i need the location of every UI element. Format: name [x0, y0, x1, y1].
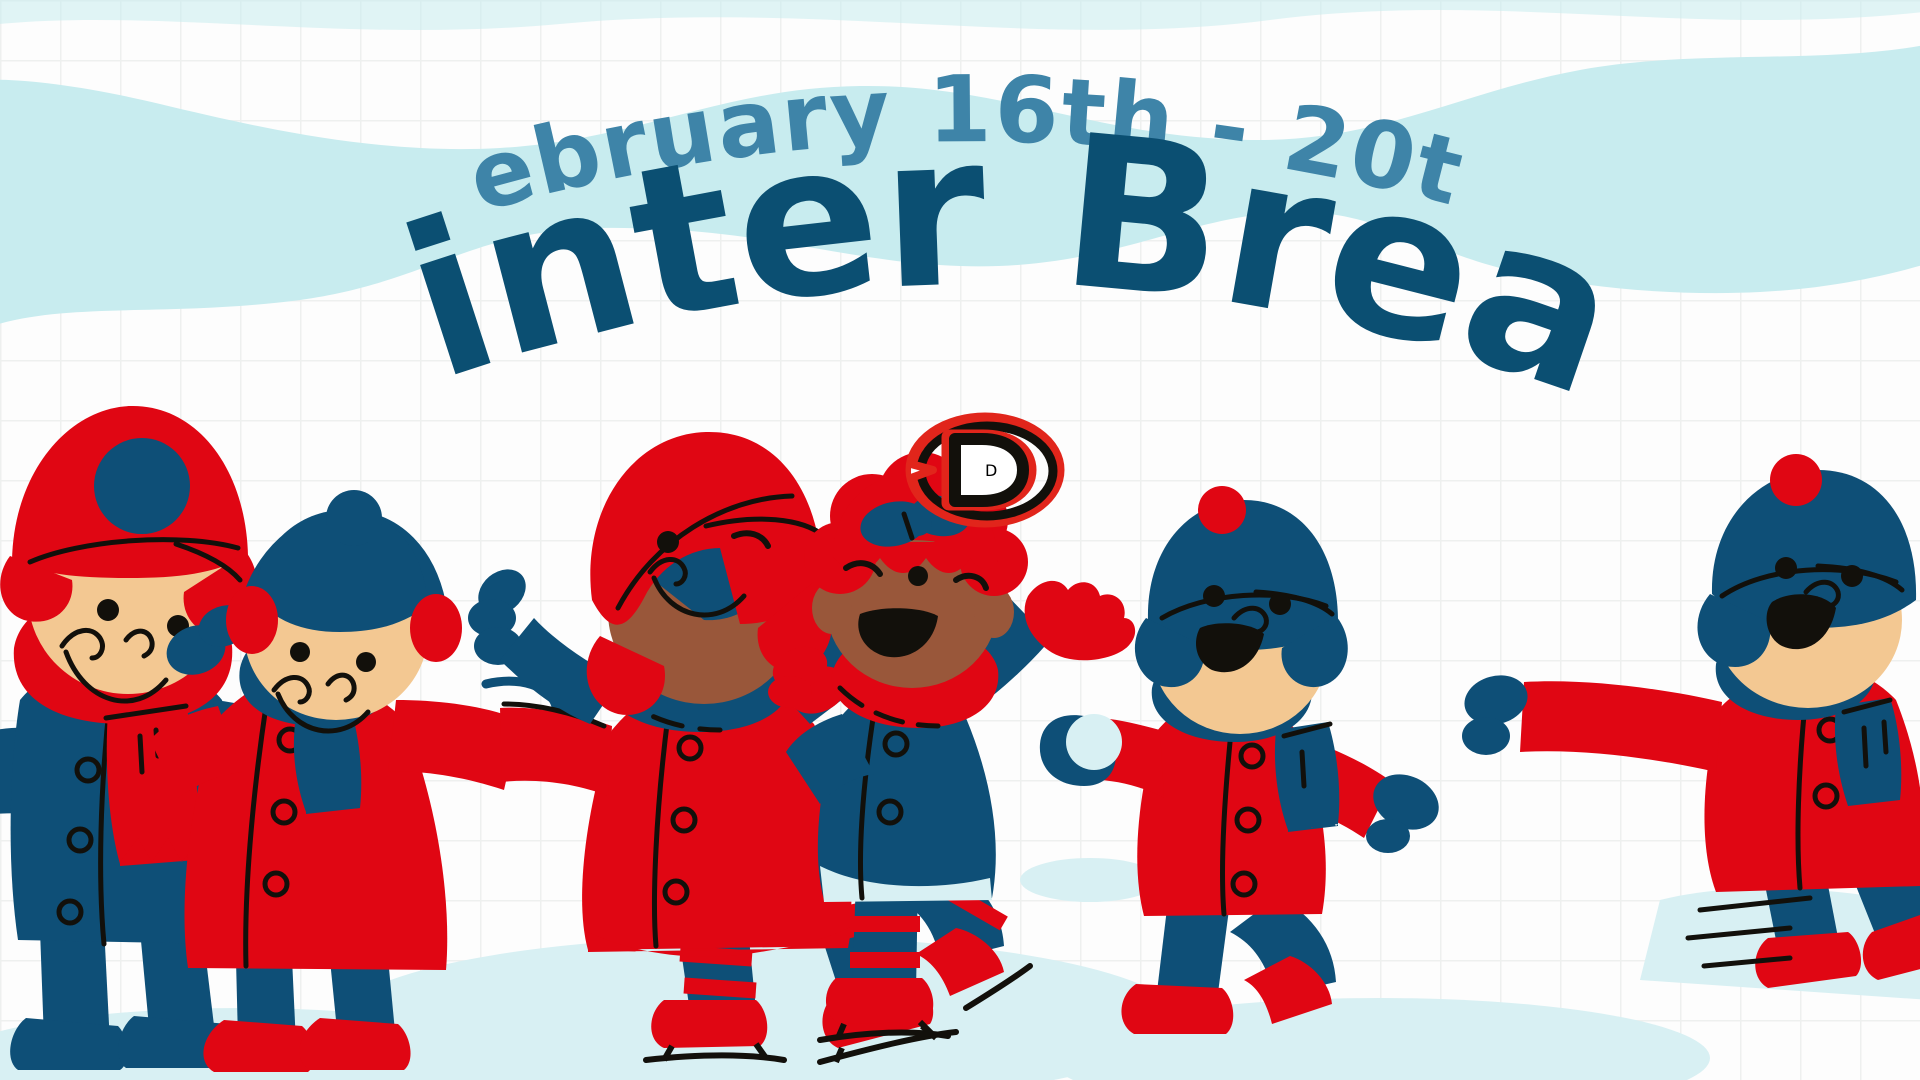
pompom	[1770, 454, 1822, 506]
pompom	[1198, 486, 1246, 534]
logo-letter: D	[985, 461, 997, 480]
banner-artwork: February 16th - 20th Winter Break	[0, 0, 1920, 1080]
snowball	[1066, 714, 1122, 770]
winter-break-banner: February 16th - 20th Winter Break	[0, 0, 1920, 1080]
pompom	[326, 490, 382, 546]
pompom	[94, 438, 190, 534]
